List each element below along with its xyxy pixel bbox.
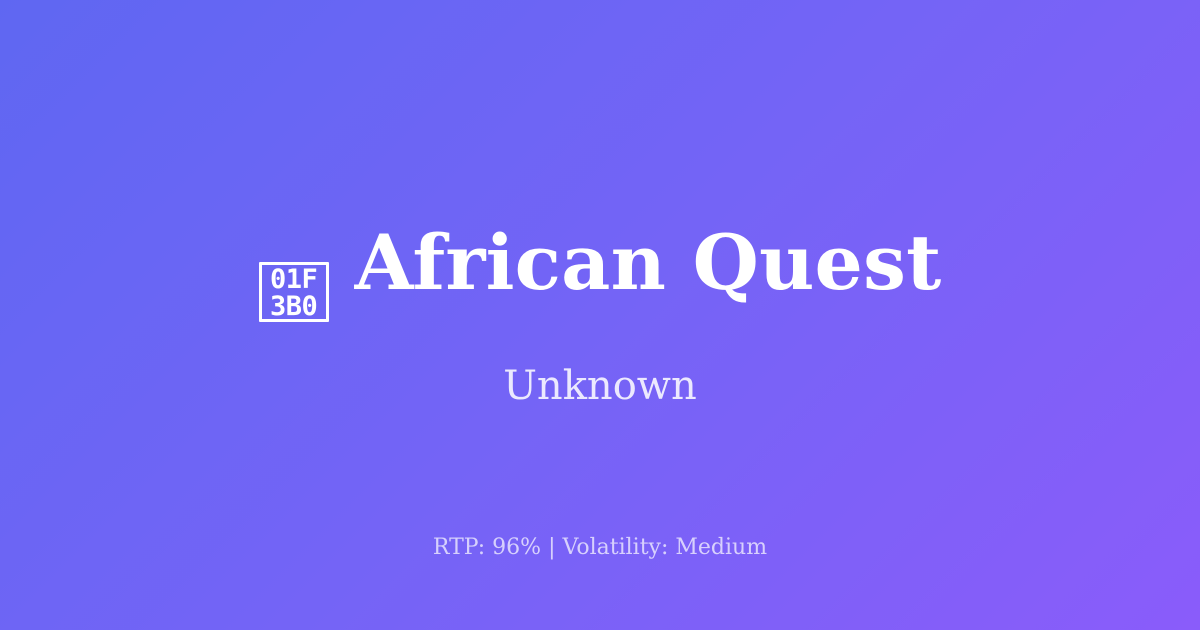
tofu-codepoint-line-2: 3B0 [262,293,326,320]
tofu-codepoint-line-1: 01F [262,266,326,293]
og-preview-card: 01F 3B0 African Quest Unknown RTP: 96% |… [0,0,1200,630]
title-row: 01F 3B0 African Quest [0,223,1200,323]
subtitle-provider: Unknown [0,362,1200,410]
page-title: African Quest [355,223,942,303]
slot-machine-emoji-icon: 01F 3B0 [259,262,329,322]
game-stats-line: RTP: 96% | Volatility: Medium [0,534,1200,562]
